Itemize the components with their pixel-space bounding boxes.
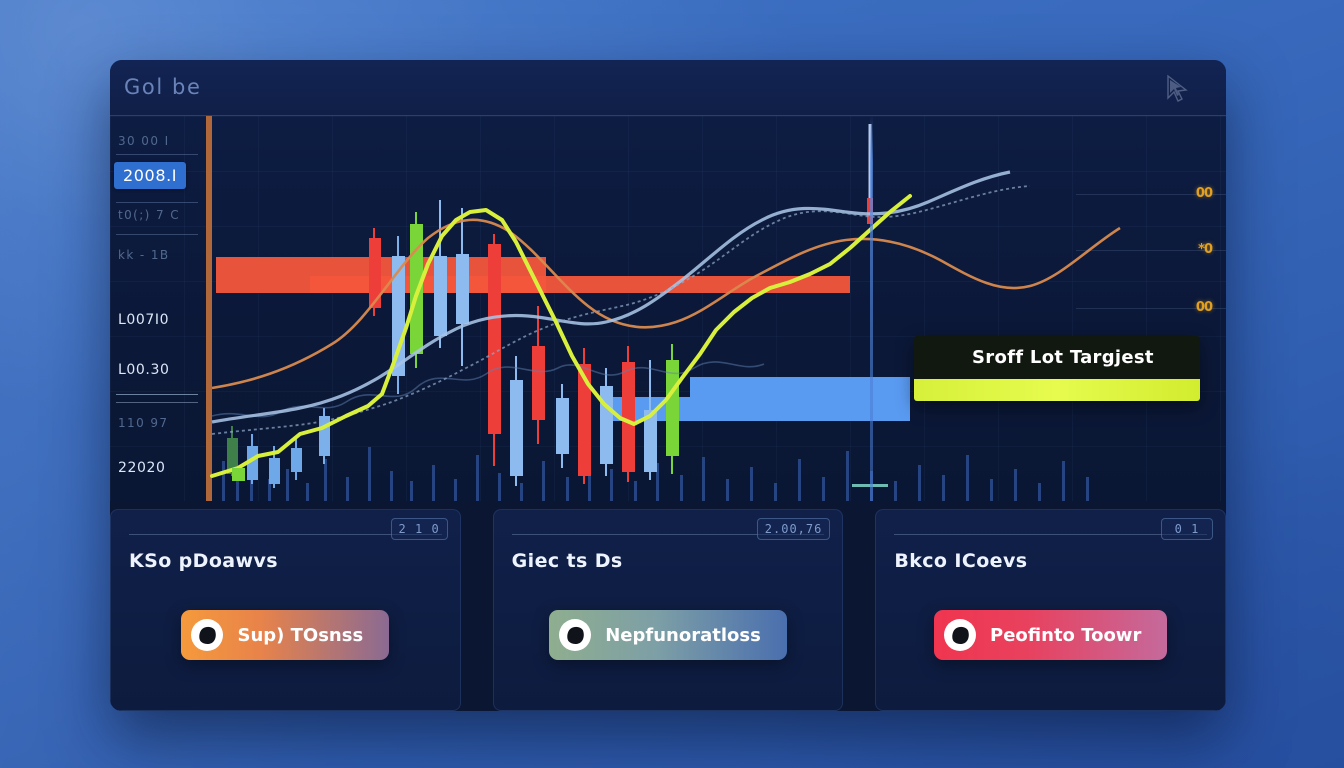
axis-rule <box>116 154 198 155</box>
target-tooltip-bar <box>914 379 1200 401</box>
bat-icon <box>559 619 591 651</box>
peofinto-toowr-button[interactable]: Peofinto Toowr <box>934 610 1167 660</box>
card-title: Bkco ICoevs <box>894 550 1207 572</box>
indicator-lines <box>110 116 1226 501</box>
gold-marker: *0 <box>1198 242 1212 257</box>
cursor-arrow-icon[interactable] <box>1164 74 1192 104</box>
pill-label: Nepfunoratloss <box>605 625 761 646</box>
price-chart-panel[interactable]: 30 00 I 2008.I t0(;) 7 C kk - 1B L007I0 … <box>110 116 1226 501</box>
axis-rule <box>116 402 198 403</box>
nepfunoratloss-button[interactable]: Nepfunoratloss <box>549 610 787 660</box>
app-window: Gol be <box>110 60 1226 711</box>
page-title: Gol be <box>124 75 201 99</box>
title-bar: Gol be <box>110 60 1226 116</box>
axis-tick: t0(;) 7 C <box>118 208 180 222</box>
card-badge: 2.00,76 <box>757 518 831 540</box>
axis-tick: 30 00 I <box>118 134 170 148</box>
axis-rule <box>116 394 198 395</box>
axis-tick: kk - 1B <box>118 248 170 262</box>
card-giec-ts-ds[interactable]: 2.00,76 Giec ts Ds Nepfunoratloss <box>493 509 844 711</box>
price-axis[interactable]: 30 00 I 2008.I t0(;) 7 C kk - 1B L007I0 … <box>110 116 206 501</box>
card-ks-pdoawvs[interactable]: 2 1 0 KSo pDoawvs Sup) TOsnss <box>110 509 461 711</box>
pill-label: Sup) TOsnss <box>237 625 363 646</box>
axis-tick-active[interactable]: 2008.I <box>114 162 186 189</box>
crosshair-vertical-line <box>870 116 873 501</box>
gold-marker: 00 <box>1196 300 1212 315</box>
axis-tick: 110 97 <box>118 416 168 430</box>
bat-icon <box>944 619 976 651</box>
axis-tick: L007I0 <box>118 312 169 328</box>
target-tooltip-label: Sroff Lot Targjest <box>914 336 1200 379</box>
gold-marker: 00 <box>1196 186 1212 201</box>
card-badge: 0 1 <box>1161 518 1213 540</box>
target-tooltip[interactable]: Sroff Lot Targjest <box>914 336 1200 401</box>
card-bkco-icoevs[interactable]: 0 1 Bkco ICoevs Peofinto Toowr <box>875 509 1226 711</box>
card-title: KSo pDoawvs <box>129 550 442 572</box>
card-title: Giec ts Ds <box>512 550 825 572</box>
axis-rule <box>116 234 198 235</box>
card-badge: 2 1 0 <box>391 518 448 540</box>
axis-tick: 22020 <box>118 460 166 476</box>
axis-rule <box>116 202 198 203</box>
sup-tosnss-button[interactable]: Sup) TOsnss <box>181 610 389 660</box>
axis-tick: L00.30 <box>118 362 169 378</box>
pill-label: Peofinto Toowr <box>990 625 1141 646</box>
bat-icon <box>191 619 223 651</box>
cards-row: 2 1 0 KSo pDoawvs Sup) TOsnss 2.00,76 Gi… <box>110 501 1226 711</box>
